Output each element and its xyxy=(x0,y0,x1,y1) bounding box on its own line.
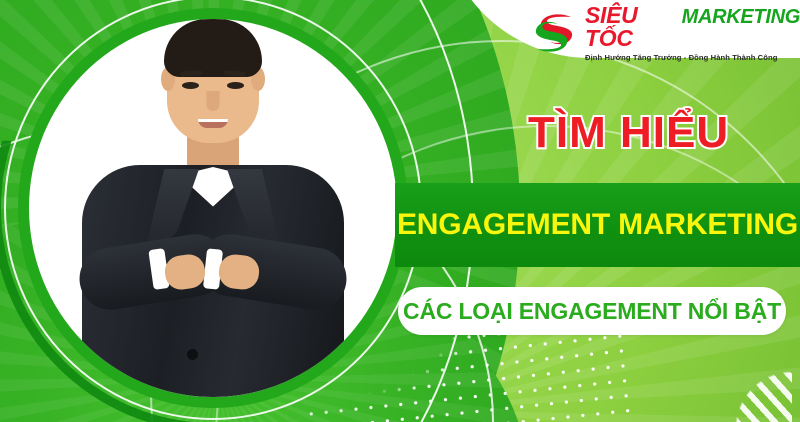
hair xyxy=(164,19,262,77)
headline-subtitle-pill: CÁC LOẠI ENGAGEMENT NỔI BẬT xyxy=(398,287,786,335)
headline-eyebrow: TÌM HIỂU xyxy=(528,108,729,158)
eye-right xyxy=(227,82,244,89)
siêu-tốc-s-swoosh-icon xyxy=(530,11,578,55)
portrait-photo xyxy=(29,19,397,397)
brand-logo[interactable]: SIÊU TỐC MARKETING Định Hướng Tăng Trưởn… xyxy=(530,4,800,62)
diagonal-stripes-corner-icon xyxy=(682,332,792,422)
nose xyxy=(207,91,220,111)
eye-left xyxy=(182,82,199,89)
brand-wordmark: SIÊU TỐC MARKETING Định Hướng Tăng Trưởn… xyxy=(585,4,800,62)
brand-name-primary: SIÊU TỐC xyxy=(585,4,675,50)
portrait-circle-frame xyxy=(18,8,408,408)
jacket-button xyxy=(187,349,198,360)
businessman-illustration xyxy=(48,19,378,397)
brand-name-secondary: MARKETING xyxy=(682,7,800,27)
mouth xyxy=(198,119,228,128)
marketing-banner: SIÊU TỐC MARKETING Định Hướng Tăng Trưởn… xyxy=(0,0,800,422)
headline-subtitle: CÁC LOẠI ENGAGEMENT NỔI BẬT xyxy=(403,298,781,325)
brand-tagline: Định Hướng Tăng Trưởng - Đồng Hành Thành… xyxy=(585,54,800,62)
headline-title-band: ENGAGEMENT MARKETING xyxy=(395,183,800,267)
headline-title: ENGAGEMENT MARKETING xyxy=(397,208,798,242)
